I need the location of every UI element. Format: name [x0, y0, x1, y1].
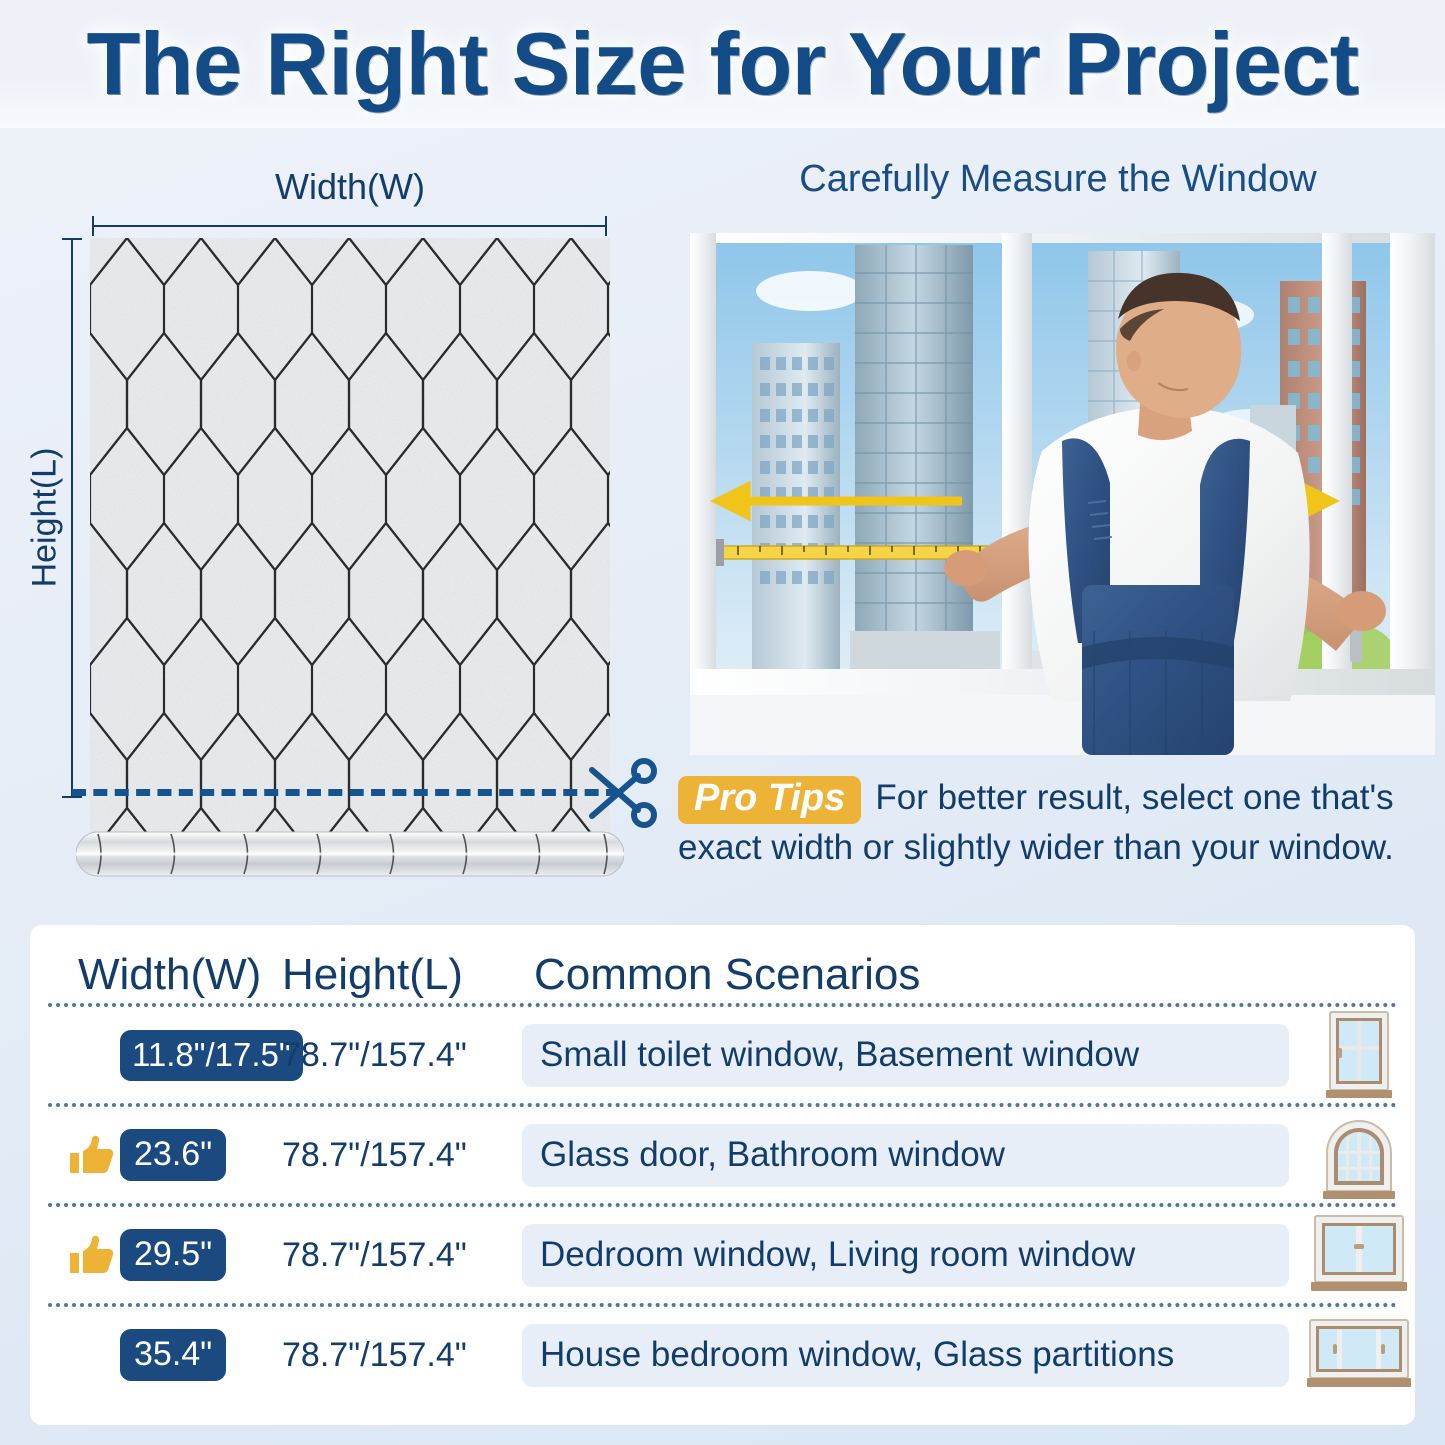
row-divider [48, 1203, 1397, 1207]
pro-tips-line-2: exact width or slightly wider than your … [678, 826, 1438, 871]
width-dimension-label: Width(W) [90, 166, 610, 208]
cell-width: 35.4" [30, 1329, 282, 1381]
width-pill: 35.4" [120, 1329, 226, 1381]
cell-scenario: Glass door, Bathroom window [522, 1124, 1303, 1187]
width-bar [92, 225, 607, 227]
size-table-card: Width(W) Height(L) Common Scenarios 11.8… [30, 925, 1415, 1425]
cell-width: 11.8"/17.5" [30, 1030, 282, 1081]
film-roll [76, 828, 624, 880]
width-pill: 11.8"/17.5" [120, 1030, 303, 1081]
pro-tips-line-1: For better result, select one that's [875, 776, 1438, 821]
width-cap-right [605, 216, 607, 236]
cell-height: 78.7"/157.4" [282, 1136, 522, 1175]
cell-width: 23.6" [30, 1129, 282, 1181]
row-divider [48, 1003, 1397, 1007]
height-dimension-line [62, 238, 82, 798]
cell-scenario: House bedroom window, Glass partitions [522, 1324, 1303, 1387]
window-double-casement-icon [1303, 1212, 1415, 1298]
table-row[interactable]: 35.4" 78.7"/157.4" House bedroom window,… [30, 1307, 1415, 1403]
pro-tips-block: Pro Tips For better result, select one t… [678, 776, 1438, 871]
scenario-chip: Dedroom window, Living room window [522, 1224, 1289, 1287]
row-divider [48, 1103, 1397, 1107]
scissors-icon [586, 758, 658, 828]
scenario-chip: Small toilet window, Basement window [522, 1024, 1289, 1087]
width-pill: 23.6" [120, 1129, 226, 1181]
height-dimension-label: Height(L) [26, 418, 65, 618]
column-header-height: Height(L) [282, 953, 522, 997]
page-title: The Right Size for Your Project [86, 13, 1358, 115]
window-single-four-pane-icon [1303, 1008, 1415, 1102]
worker-measuring-window-photo [690, 233, 1435, 755]
height-bar [71, 238, 73, 798]
top-section: Width(W) Height(L) [0, 128, 1445, 910]
width-pill: 29.5" [120, 1229, 226, 1281]
window-arched-icon [1303, 1107, 1415, 1203]
scenario-chip: House bedroom window, Glass partitions [522, 1324, 1289, 1387]
column-header-width: Width(W) [30, 953, 282, 997]
cell-height: 78.7"/157.4" [282, 1236, 522, 1275]
row-divider [48, 1303, 1397, 1307]
page-header: The Right Size for Your Project [0, 0, 1445, 128]
cut-line [72, 789, 620, 796]
height-cap-bottom [62, 796, 82, 798]
column-header-scenarios: Common Scenarios [522, 953, 1415, 997]
table-row[interactable]: 29.5" 78.7"/157.4" Dedroom window, Livin… [30, 1207, 1415, 1303]
width-dimension-line [92, 216, 607, 236]
cell-scenario: Dedroom window, Living room window [522, 1224, 1303, 1287]
cell-width: 29.5" [30, 1229, 282, 1281]
cell-height: 78.7"/157.4" [282, 1036, 522, 1075]
table-row[interactable]: 23.6" 78.7"/157.4" Glass door, Bathroom … [30, 1107, 1415, 1203]
thumbs-up-icon [66, 1231, 114, 1279]
table-row[interactable]: 11.8"/17.5" 78.7"/157.4" Small toilet wi… [30, 1007, 1415, 1103]
privacy-film-sheet [90, 238, 610, 838]
window-triple-pane-icon [1303, 1314, 1415, 1396]
cell-height: 78.7"/157.4" [282, 1336, 522, 1375]
table-body: 11.8"/17.5" 78.7"/157.4" Small toilet wi… [30, 1003, 1415, 1403]
pro-tips-badge: Pro Tips [678, 776, 861, 824]
thumbs-up-icon [66, 1131, 114, 1179]
film-dimension-diagram: Width(W) Height(L) [0, 128, 660, 910]
photo-caption: Carefully Measure the Window [678, 158, 1438, 201]
table-header-row: Width(W) Height(L) Common Scenarios [30, 925, 1415, 997]
scenario-chip: Glass door, Bathroom window [522, 1124, 1289, 1187]
cell-scenario: Small toilet window, Basement window [522, 1024, 1303, 1087]
